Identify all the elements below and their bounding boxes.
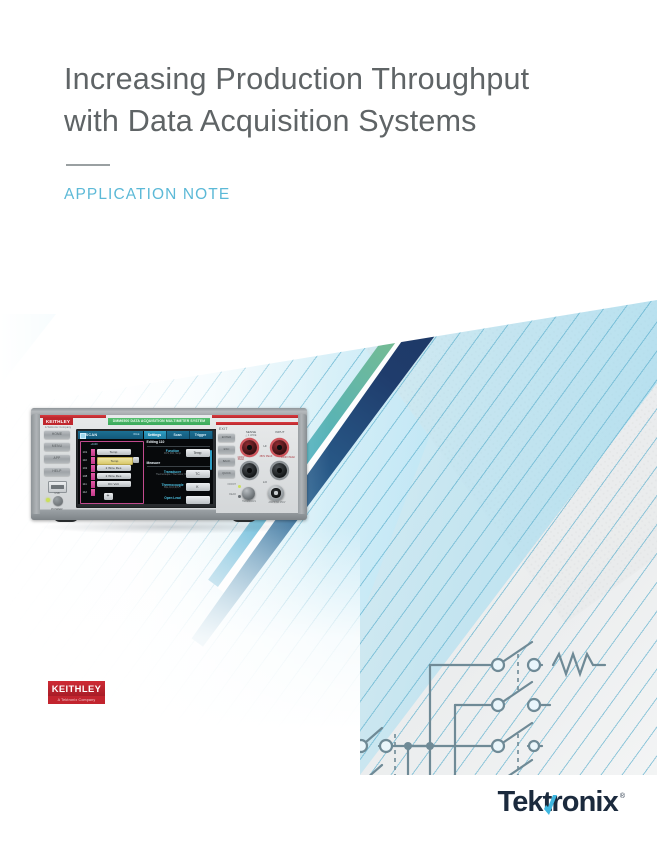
tab-scan[interactable]: Scan (167, 431, 190, 439)
button-help[interactable]: HELP (44, 467, 70, 476)
tektronix-wordmark: Tektronix (498, 788, 618, 817)
setting-value-open-lead[interactable] (186, 496, 210, 504)
setting-sub-transducer: Thermocouple / Thermistor, RTD (156, 474, 190, 476)
warning-center: 350V PEAK (258, 456, 274, 458)
terminals-knob-label: TERMINALS (236, 501, 262, 503)
front-label: FRONT (218, 484, 236, 486)
amps-jack[interactable] (268, 485, 284, 501)
channel-row[interactable]: 102 2 Wire Res (83, 465, 141, 472)
model-banner: DMM6500 DATA ACQUISITION MULTIMETER SYST… (108, 418, 210, 425)
amps-jack-pin (274, 491, 277, 494)
settings-divider (147, 446, 210, 447)
chassis-side-right (298, 414, 307, 514)
document-type-kicker: APPLICATION NOTE (64, 186, 624, 204)
amps-fuse-label: AMPS 3A 250V (264, 502, 290, 504)
hero-bottom-fade (0, 525, 360, 775)
channel-id: 101 (83, 450, 88, 454)
channel-options-button[interactable] (133, 457, 139, 463)
tab-trigger[interactable]: Trigger (190, 431, 213, 439)
channel-row[interactable]: 111 DC Volt (83, 481, 141, 488)
warning-left: 1000V PEAK (234, 457, 248, 461)
power-button[interactable] (53, 496, 63, 506)
button-app[interactable]: APP (44, 454, 70, 463)
settings-divider (147, 466, 210, 467)
settings-panel-title: Editing 110 (147, 440, 165, 444)
sense-hi-jack[interactable] (242, 440, 257, 455)
jack-bore (277, 468, 282, 473)
terminals-knob[interactable] (242, 487, 255, 500)
channel-list-header: +1100 (91, 443, 98, 446)
button-menu[interactable]: MENU (44, 442, 70, 451)
button-enter[interactable]: ENTER (218, 433, 235, 442)
amps-jack-bore (271, 488, 280, 497)
screen-header: SCAN IDLE (78, 431, 143, 439)
channel-function-button[interactable]: 2 Wire Res (97, 473, 131, 480)
screen-status: IDLE (133, 432, 139, 436)
channel-row[interactable]: 101 Temp (83, 449, 141, 456)
channel-id: 102 (83, 466, 88, 470)
tektronix-k-accent-icon (542, 793, 558, 818)
instrument-shadow (39, 520, 301, 534)
channel-id: 112 (83, 490, 87, 494)
channel-function-button[interactable]: Temp (97, 449, 131, 456)
usb-label: USB (44, 492, 70, 495)
jack-bore (277, 445, 282, 450)
instrument-keithley-text: KEITHLEY (43, 418, 73, 425)
lo-label: LO (260, 480, 270, 484)
settings-scrollbar[interactable] (210, 450, 212, 470)
cover-page: Increasing Production Throughput with Da… (0, 0, 657, 850)
instrument-faceplate: KEITHLEY A Tektronix Company DMM6500 DAT… (40, 415, 298, 509)
rear-led (238, 495, 241, 498)
screen-header-title: SCAN (86, 432, 98, 438)
setting-value-function[interactable]: Temp (186, 449, 210, 457)
channel-row[interactable]: 108 2 Wire Res (83, 473, 141, 480)
setting-sub-function: DCV, DCI, Temp (156, 453, 190, 455)
channel-id: 108 (83, 474, 88, 478)
warning-right: 1000V PEAK (280, 457, 296, 459)
channel-indicator (91, 473, 95, 480)
button-back[interactable]: BACK (218, 457, 235, 466)
left-button-column: HOME MENU APP HELP (44, 430, 72, 479)
setting-label-open-lead: Open Lead (160, 496, 186, 500)
input-label: INPUT (268, 430, 292, 434)
instrument-keithley-logo: KEITHLEY (43, 418, 73, 425)
usb-port-inner (51, 485, 64, 489)
tab-settings[interactable]: Settings (144, 431, 167, 439)
title-block: Increasing Production Throughput with Da… (64, 58, 624, 204)
sense-sublabel: △ 4 WIRE (238, 434, 264, 437)
power-label: POWER (44, 507, 70, 511)
front-led (238, 485, 241, 488)
button-home[interactable]: HOME (44, 430, 70, 439)
input-lo-jack[interactable] (272, 463, 287, 478)
channel-function-button[interactable]: 2 Wire Res (97, 465, 131, 472)
keithley-logo-box: KEITHLEY (48, 681, 105, 696)
keithley-logo-text: KEITHLEY (52, 683, 102, 694)
channel-indicator (91, 457, 95, 464)
channel-indicator (91, 465, 95, 472)
screen-tabs: Settings Scan Trigger (144, 431, 213, 439)
terminal-panel: EXIT ENTER ESC BACK QUICK SENSE △ 4 WIRE… (216, 425, 298, 513)
instrument-chassis: KEITHLEY A Tektronix Company DMM6500 DAT… (31, 408, 307, 520)
dmm6500-instrument: KEITHLEY A Tektronix Company DMM6500 DAT… (31, 408, 307, 533)
setting-value-thermocouple[interactable]: K (186, 483, 210, 491)
sense-lo-jack[interactable] (242, 463, 257, 478)
tektronix-wordmark-text: Tektronix (498, 786, 618, 818)
tektronix-logo: Tektronix ® (498, 788, 625, 817)
model-banner-text: DMM6500 DATA ACQUISITION MULTIMETER SYST… (108, 418, 210, 425)
instrument-screen[interactable]: SCAN IDLE Settings Scan Trigger +1100 10… (78, 431, 213, 504)
channel-indicator (91, 489, 95, 496)
channel-indicator (91, 481, 95, 488)
add-channel-button[interactable]: + (104, 493, 113, 500)
keithley-logo: KEITHLEY A Tektronix Company (48, 681, 105, 704)
button-esc[interactable]: ESC (218, 445, 235, 454)
channel-row[interactable]: 110 Temp (83, 457, 141, 464)
jack-bore (247, 445, 252, 450)
page-title-line-1: Increasing Production Throughput (64, 58, 624, 100)
instrument-keithley-tagline: A Tektronix Company (43, 426, 73, 429)
setting-value-transducer[interactable]: TC (186, 470, 210, 478)
power-led (46, 498, 50, 502)
setting-sub-thermocouple: B,E,J,K,N,R,S,T (156, 487, 190, 489)
channel-id: 110 (83, 458, 87, 462)
channel-function-button[interactable]: DC Volt (97, 481, 131, 488)
title-rule (66, 164, 110, 166)
rear-label: REAR (218, 494, 236, 496)
exit-label: EXIT (219, 427, 228, 431)
chassis-side-left (31, 414, 40, 514)
settings-panel: Editing 110 Function DCV, DCI, Temp Temp… (144, 440, 213, 504)
hi-label: HI (260, 444, 270, 448)
page-title-line-2: with Data Acquisition Systems (64, 100, 624, 142)
keithley-tagline: A Tektronix Company (48, 696, 105, 704)
channel-indicator (91, 449, 95, 456)
button-quick[interactable]: QUICK (218, 469, 235, 478)
jack-bore (247, 468, 252, 473)
red-stripe-right (212, 415, 298, 418)
input-hi-jack[interactable] (272, 440, 287, 455)
tektronix-registered-mark: ® (620, 793, 625, 800)
settings-section-measure: Measure (147, 461, 161, 465)
channel-id: 111 (83, 482, 87, 486)
